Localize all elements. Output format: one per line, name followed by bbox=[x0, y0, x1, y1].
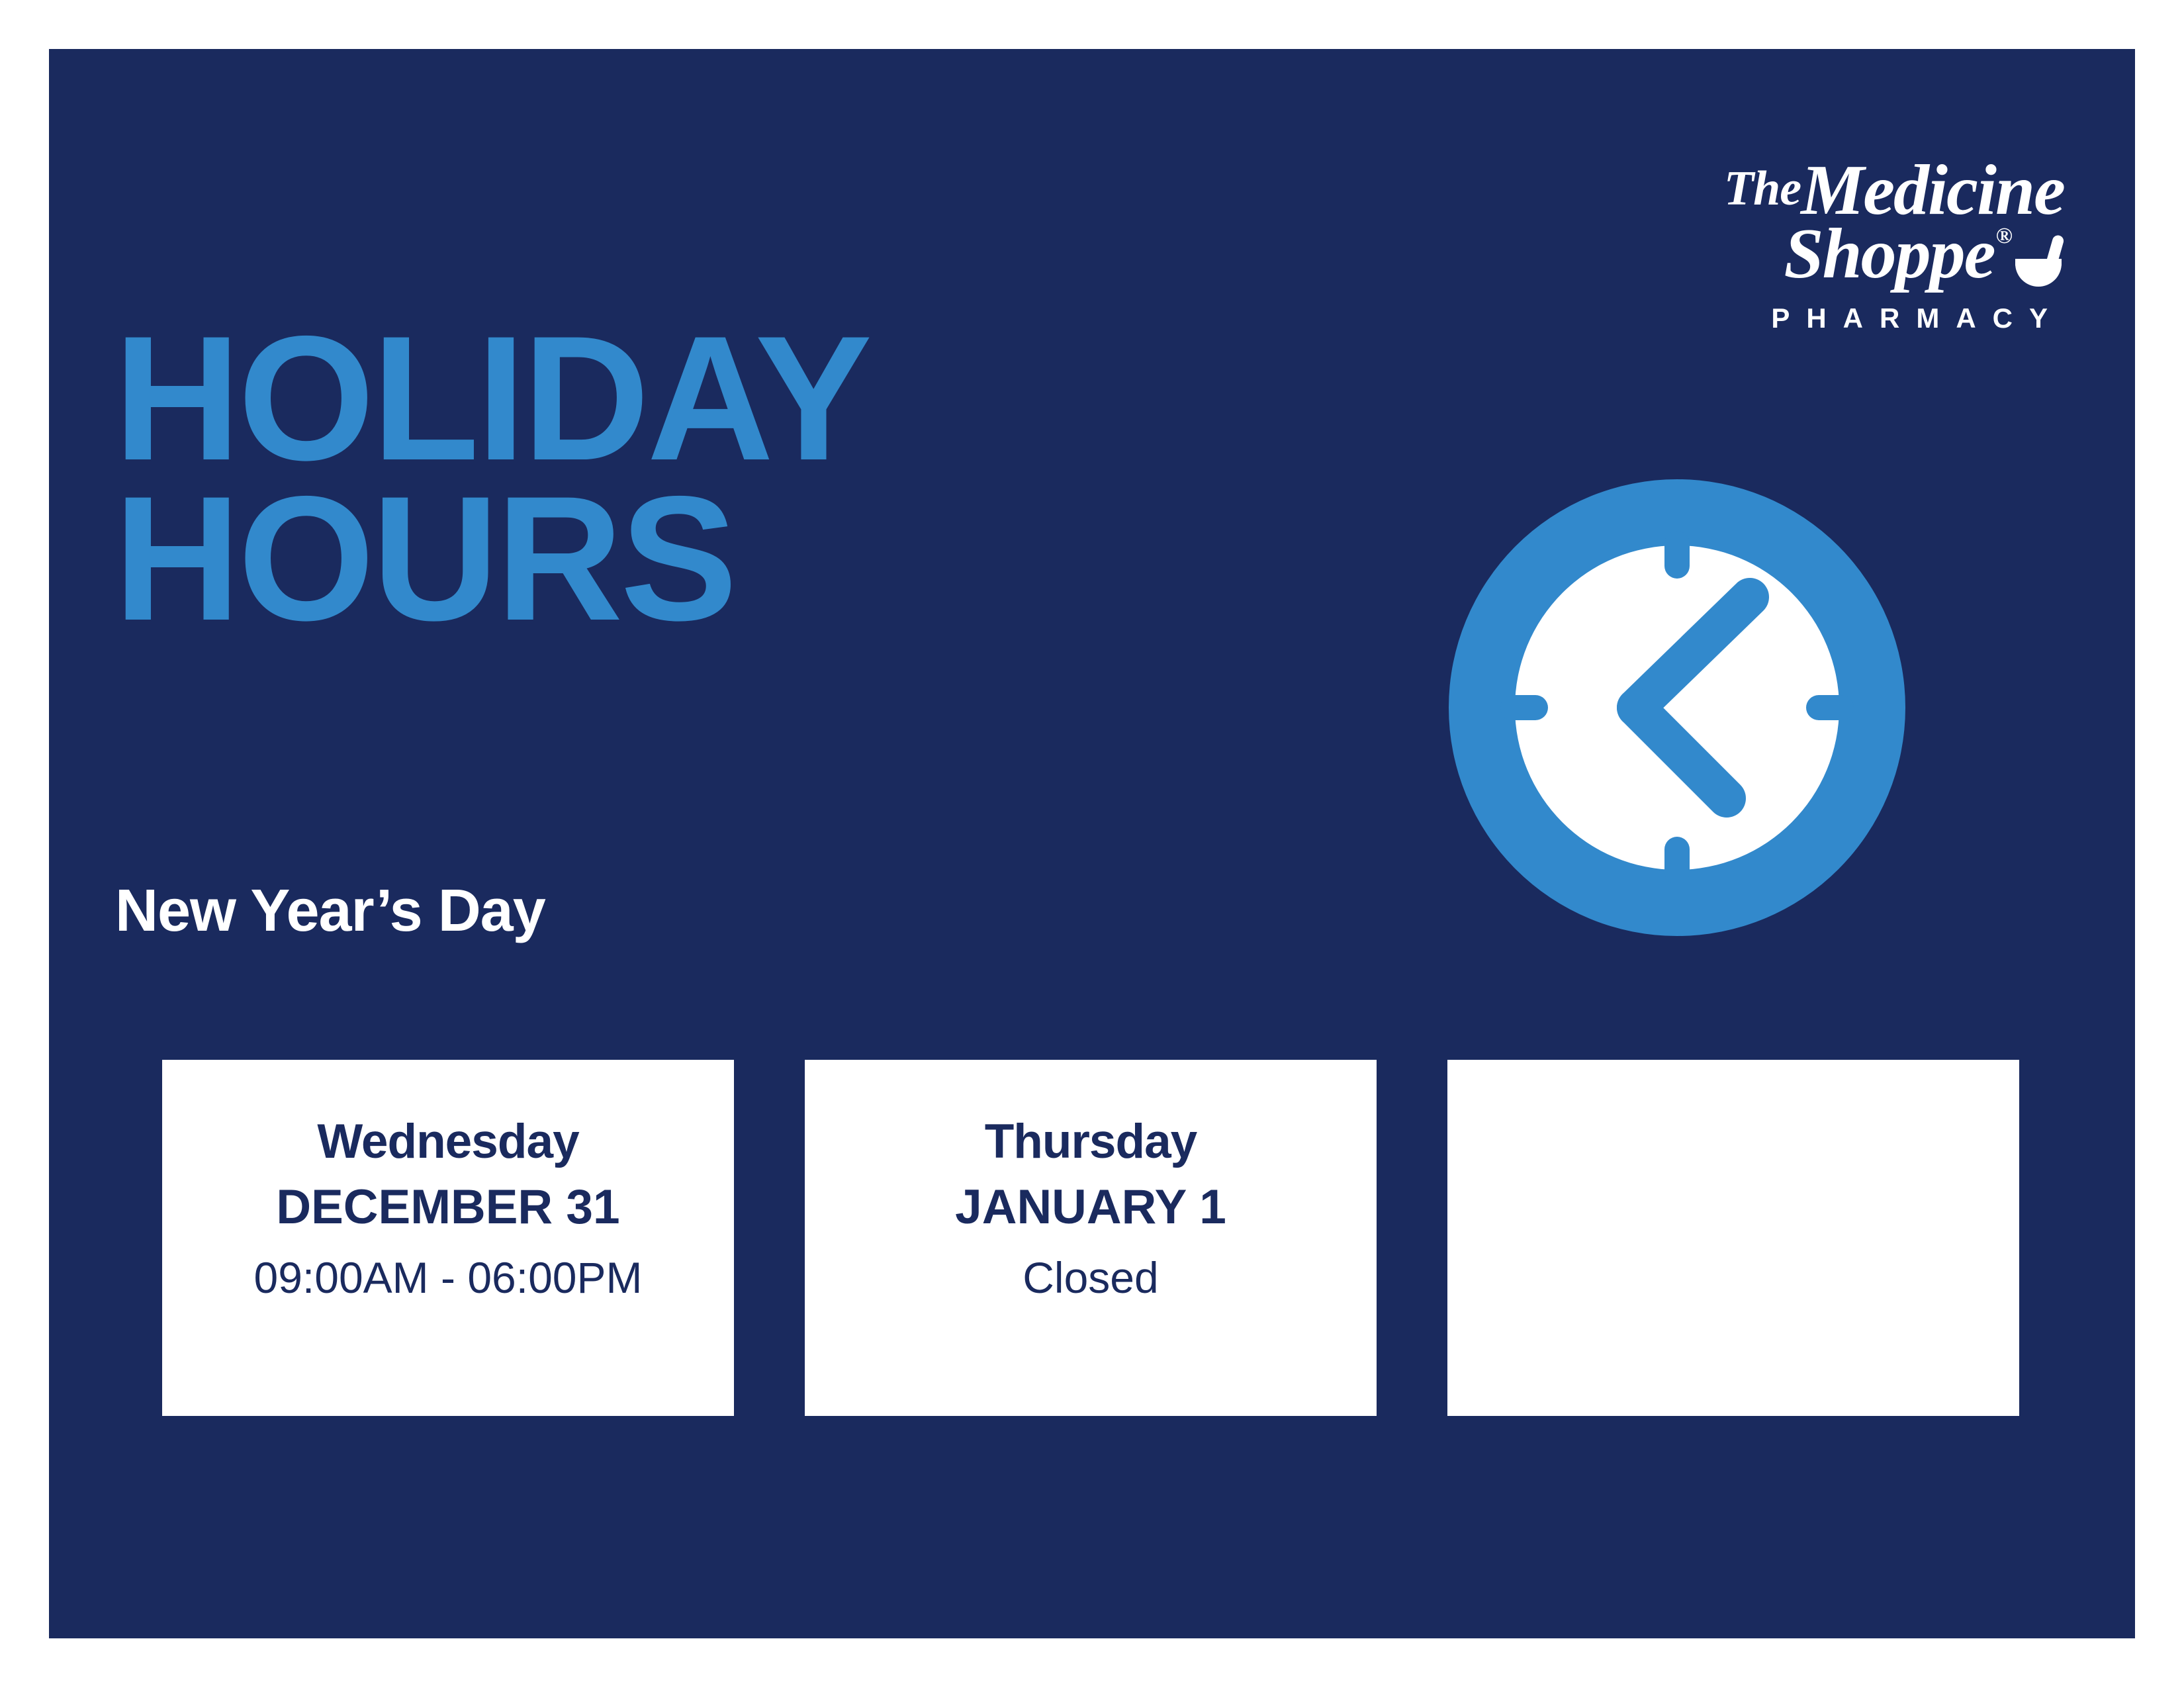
brand-logo-shoppe: Shoppe bbox=[1784, 214, 1995, 293]
hours-card[interactable]: Thursday JANUARY 1 Closed bbox=[805, 1060, 1377, 1416]
brand-logo-line-2: Shoppe® bbox=[1588, 218, 2064, 290]
page-subtitle: New Year’s Day bbox=[115, 881, 545, 941]
brand-logo: TheMedicine Shoppe® PHARMACY bbox=[1588, 155, 2064, 340]
hours-card-time: 09:00AM - 06:00PM bbox=[254, 1255, 643, 1301]
hours-card-time: Closed bbox=[1023, 1255, 1158, 1301]
mortar-and-pestle-icon bbox=[2014, 231, 2064, 288]
registered-mark-icon: ® bbox=[1996, 224, 2011, 248]
hours-cards-row: Wednesday DECEMBER 31 09:00AM - 06:00PM … bbox=[162, 1060, 2019, 1416]
hours-card[interactable]: Wednesday DECEMBER 31 09:00AM - 06:00PM bbox=[162, 1060, 734, 1416]
clock-icon bbox=[1449, 479, 1905, 936]
poster-panel: TheMedicine Shoppe® PHARMACY HOLIDAY HOU… bbox=[49, 49, 2135, 1638]
hours-card-date: JANUARY 1 bbox=[955, 1182, 1226, 1233]
headline-line-hours: HOURS bbox=[114, 483, 1359, 634]
hours-card-date: DECEMBER 31 bbox=[276, 1182, 619, 1233]
hours-card-weekday: Thursday bbox=[985, 1117, 1197, 1168]
hours-card-weekday: Wednesday bbox=[317, 1117, 578, 1168]
brand-logo-the: The bbox=[1724, 162, 1801, 216]
page-title: HOLIDAY HOURS bbox=[114, 323, 1371, 634]
headline-line-holiday: HOLIDAY bbox=[114, 323, 1359, 474]
poster-root: TheMedicine Shoppe® PHARMACY HOLIDAY HOU… bbox=[0, 0, 2184, 1688]
hours-card-empty[interactable] bbox=[1447, 1060, 2019, 1416]
brand-logo-pharmacy: PHARMACY bbox=[1588, 305, 2064, 332]
